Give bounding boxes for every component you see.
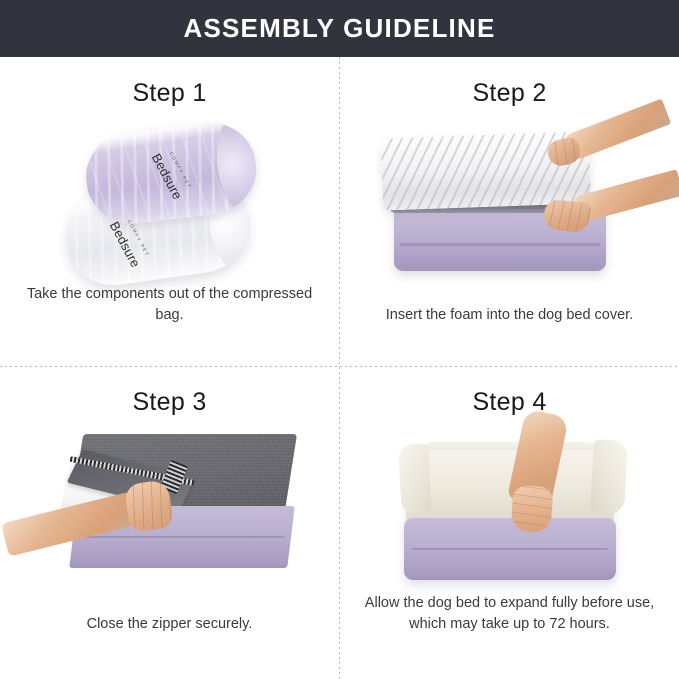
cushion-bolster-right	[590, 439, 628, 515]
page-title: ASSEMBLY GUIDELINE	[184, 13, 496, 44]
compressed-rolls-group: Bedsure COMFY PET Bedsure COMFY PET	[58, 123, 283, 293]
expanded-bed-group	[400, 426, 624, 592]
assembly-guideline-infographic: ASSEMBLY GUIDELINE Step 1 Bedsure	[0, 0, 679, 679]
step-card-1: Step 1 Bedsure COMFY PET Bedsure COMFY P…	[0, 57, 339, 368]
step-1-caption: Take the components out of the compresse…	[22, 284, 317, 326]
cushion-bolster-left	[398, 443, 432, 514]
step-card-3: Step 3 Close the zipper securely.	[0, 366, 339, 677]
steps-grid: Step 1 Bedsure COMFY PET Bedsure COMFY P…	[0, 57, 679, 679]
base-seam	[412, 548, 608, 550]
step-4-illustration	[340, 424, 679, 609]
step-3-caption: Close the zipper securely.	[22, 614, 317, 635]
step-card-2: Step 2 In	[340, 57, 679, 368]
hand-pressing-bed	[510, 485, 553, 534]
cover-seam	[400, 243, 600, 246]
step-1-illustration: Bedsure COMFY PET Bedsure COMFY PET	[0, 115, 339, 300]
step-4-caption: Allow the dog bed to expand fully before…	[362, 593, 657, 635]
step-2-title: Step 2	[340, 79, 679, 108]
header-bar: ASSEMBLY GUIDELINE	[0, 0, 679, 57]
zipper-close-group	[55, 428, 291, 582]
finger-detail	[510, 485, 553, 534]
step-2-illustration	[340, 115, 679, 300]
step-3-title: Step 3	[0, 388, 339, 417]
step-card-4: Step 4 Allow the dog bed to expand fully…	[340, 366, 679, 677]
step-4-title: Step 4	[340, 388, 679, 417]
base-seam	[81, 536, 285, 538]
step-3-illustration	[0, 424, 339, 609]
foam-insert-group	[376, 121, 646, 297]
step-1-title: Step 1	[0, 79, 339, 108]
step-2-caption: Insert the foam into the dog bed cover.	[362, 305, 657, 326]
